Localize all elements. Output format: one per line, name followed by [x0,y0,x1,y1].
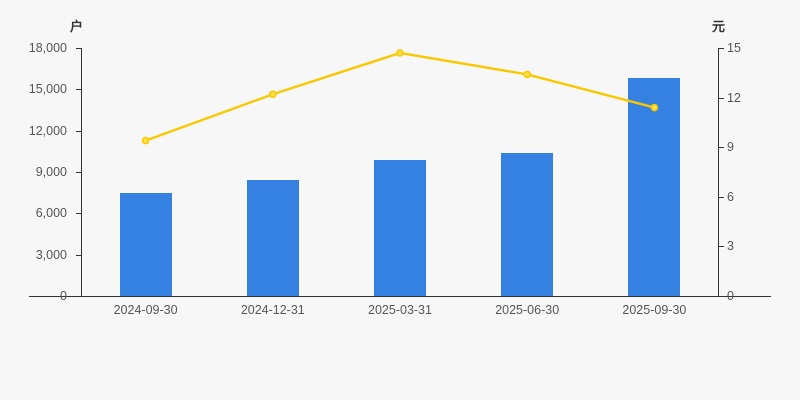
left-axis-tick-label: 18,000 [29,42,67,55]
x-axis-category-label: 2024-12-31 [213,304,333,317]
x-axis-category-label: 2025-06-30 [467,304,587,317]
x-axis-line [29,296,771,297]
left-axis-tick-label: 0 [60,290,67,303]
left-axis-tick-label: 9,000 [36,166,67,179]
left-axis-tick-label: 15,000 [29,83,67,96]
plot-area [82,48,718,296]
chart-container: 户 元 03,0006,0009,00012,00015,00018,000 0… [0,0,800,400]
left-axis-tick-label: 3,000 [36,249,67,262]
right-axis-tick-label: 9 [727,141,734,154]
right-axis-tick [719,246,724,247]
right-axis-tick-label: 12 [727,92,741,105]
right-axis-line [718,48,719,297]
left-axis-tick [76,89,81,90]
bar[interactable] [120,193,172,296]
x-axis-category-label: 2024-09-30 [86,304,206,317]
right-axis-tick-label: 3 [727,240,734,253]
x-axis-category-label: 2025-03-31 [340,304,460,317]
right-axis-tick [719,296,724,297]
right-axis-tick [719,147,724,148]
left-axis-tick-label: 12,000 [29,125,67,138]
left-axis-tick [76,48,81,49]
right-axis-tick [719,48,724,49]
right-axis-unit-label: 元 [712,20,725,33]
bar[interactable] [501,153,553,296]
right-axis-tick-label: 0 [727,290,734,303]
left-axis-tick [76,172,81,173]
bar[interactable] [628,78,680,296]
left-axis-unit-label: 户 [70,20,83,33]
left-axis-tick [76,296,81,297]
left-axis-tick [76,213,81,214]
right-axis-tick [719,197,724,198]
right-axis-tick-label: 6 [727,191,734,204]
x-axis-category-label: 2025-09-30 [594,304,714,317]
right-axis-tick-label: 15 [727,42,741,55]
left-axis-tick [76,131,81,132]
bar[interactable] [247,180,299,296]
bar[interactable] [374,160,426,296]
left-axis-tick-label: 6,000 [36,207,67,220]
right-axis-tick [719,98,724,99]
left-axis-tick [76,255,81,256]
